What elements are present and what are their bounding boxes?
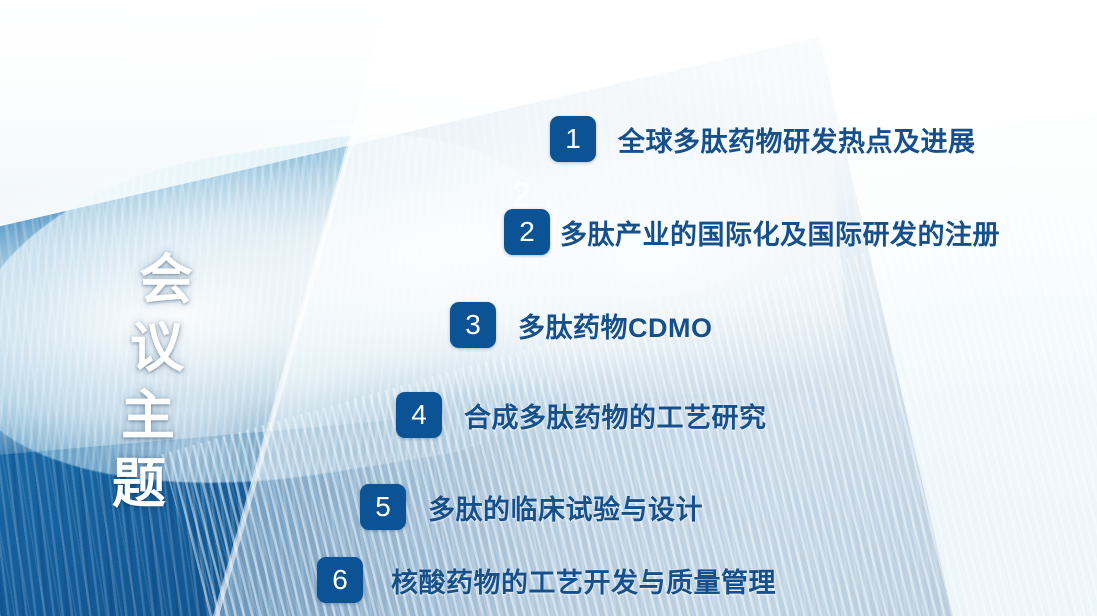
agenda-number-badge-6: 6 xyxy=(317,557,363,603)
agenda-number-badge-5: 5 xyxy=(360,484,406,530)
agenda-list: 2 1 全球多肽药物研发热点及进展 2 多肽产业的国际化及国际研发的注册 3 多… xyxy=(0,0,1097,616)
agenda-item-1[interactable]: 1 全球多肽药物研发热点及进展 xyxy=(550,116,976,162)
agenda-label-3: 多肽药物CDMO xyxy=(518,306,713,345)
agenda-number-badge-1: 1 xyxy=(550,116,596,162)
agenda-label-2: 多肽产业的国际化及国际研发的注册 xyxy=(560,213,1000,252)
presentation-slide: 会 议 主 题 2 1 全球多肽药物研发热点及进展 2 多肽产业的国际化及国际研… xyxy=(0,0,1097,616)
agenda-label-5: 多肽的临床试验与设计 xyxy=(428,488,703,527)
ghost-number-artifact: 2 xyxy=(512,178,531,212)
agenda-label-6: 核酸药物的工艺开发与质量管理 xyxy=(391,561,776,600)
agenda-item-2[interactable]: 2 多肽产业的国际化及国际研发的注册 xyxy=(504,209,1000,255)
agenda-label-1: 全球多肽药物研发热点及进展 xyxy=(618,120,976,159)
agenda-number-badge-4: 4 xyxy=(396,392,442,438)
agenda-item-6[interactable]: 6 核酸药物的工艺开发与质量管理 xyxy=(317,557,776,603)
agenda-number-badge-2: 2 xyxy=(504,209,550,255)
agenda-item-3[interactable]: 3 多肽药物CDMO xyxy=(450,302,713,348)
agenda-item-5[interactable]: 5 多肽的临床试验与设计 xyxy=(360,484,703,530)
agenda-number-badge-3: 3 xyxy=(450,302,496,348)
agenda-item-4[interactable]: 4 合成多肽药物的工艺研究 xyxy=(396,392,767,438)
agenda-label-4: 合成多肽药物的工艺研究 xyxy=(464,396,767,435)
